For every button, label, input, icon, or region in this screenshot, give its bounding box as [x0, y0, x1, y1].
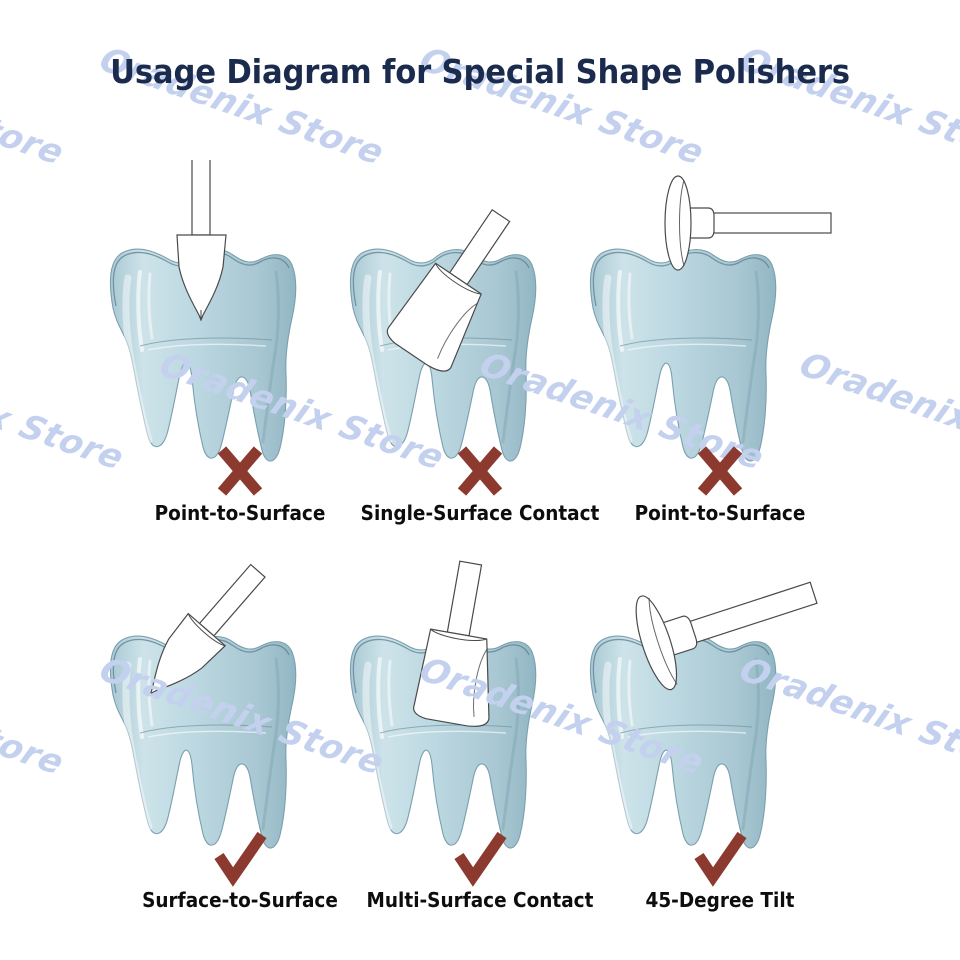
watermark-text: Oradenix Store: [793, 955, 960, 960]
tooth-graphic: [590, 636, 775, 848]
watermark-text: Oradenix Store: [0, 650, 70, 783]
caption-45-degree-tilt: 45-Degree Tilt: [576, 888, 864, 912]
diagram-canvas: Oradenix StoreOradenix StoreOradenix Sto…: [0, 0, 960, 960]
incorrect-cross-icon: [560, 442, 880, 500]
tooth-graphic: [110, 636, 295, 848]
watermark-text: Oradenix Store: [0, 955, 130, 960]
correct-check-icon: [560, 829, 880, 887]
watermark-text: Oradenix Store: [153, 955, 450, 960]
watermark-text: Oradenix Store: [473, 955, 770, 960]
caption-point-to-surface-disc: Point-to-Surface: [576, 501, 864, 525]
tooth-graphic: [590, 249, 775, 461]
page-title: Usage Diagram for Special Shape Polisher…: [34, 52, 927, 91]
